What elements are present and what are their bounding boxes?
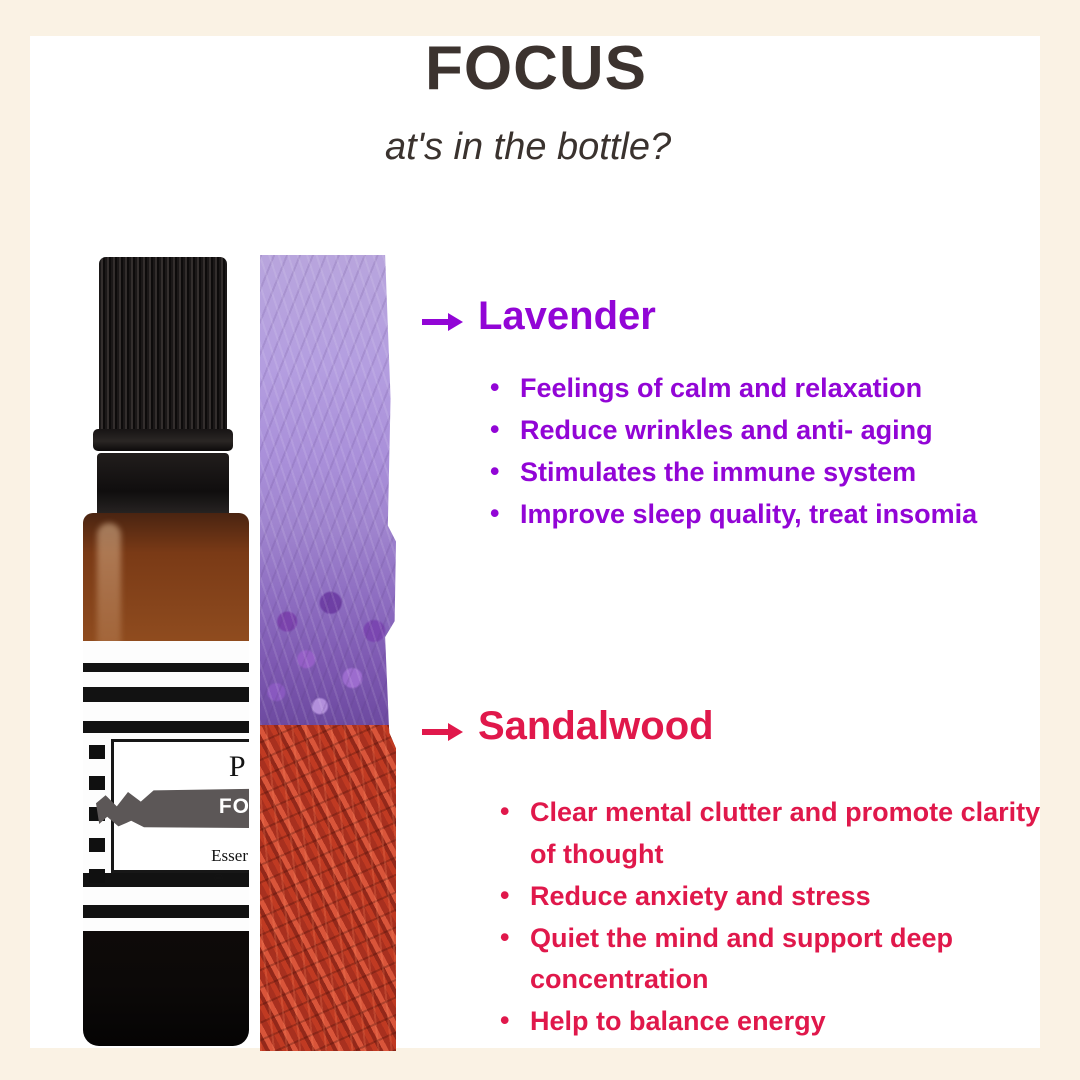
bottle-cap (99, 257, 227, 435)
essential-oil-bottle: P FO Esser ⊖ (75, 241, 257, 1046)
list-item: Help to balance energy (500, 1001, 1080, 1043)
bottle-label: P FO Esser ⊖ (83, 641, 249, 931)
label-brand-text: P (229, 750, 246, 784)
page-title: FOCUS (425, 36, 1065, 101)
section-title-lavender: Lavender (478, 294, 656, 338)
list-item: Feelings of calm and relaxation (490, 368, 1080, 410)
label-brush-stroke: FO (96, 788, 249, 828)
label-brush-text: FO (219, 795, 249, 819)
content-card: FOCUS at's in the bottle? P FO (30, 36, 1040, 1048)
label-subtitle-text: Esser (211, 846, 248, 866)
list-item: Stimulates the immune system (490, 452, 1080, 494)
section-sandalwood: Sandalwood Clear mental clutter and prom… (422, 704, 1080, 1043)
section-title-sandalwood: Sandalwood (478, 704, 714, 748)
label-stripe (83, 721, 249, 733)
benefits-list-sandalwood: Clear mental clutter and promote clarity… (422, 792, 1080, 1043)
label-stripe (83, 873, 249, 887)
product-photo: P FO Esser ⊖ (65, 241, 395, 1046)
label-inner-frame: P FO Esser ⊖ (111, 739, 249, 873)
lavender-flowers-photo (260, 255, 396, 725)
list-item: Clear mental clutter and promote clarity… (500, 792, 1060, 876)
ingredient-image-strip (260, 255, 396, 1051)
label-mark-icon: ⊖ (213, 870, 224, 886)
arrow-right-icon (422, 721, 464, 748)
list-item: Improve sleep quality, treat insomia (490, 494, 1080, 536)
bottle-neck (97, 453, 229, 517)
section-lavender: Lavender Feelings of calm and relaxation… (422, 294, 1080, 535)
sandalwood-chips-photo (260, 725, 396, 1051)
list-item: Reduce anxiety and stress (500, 876, 1080, 918)
list-item: Reduce wrinkles and anti- aging (490, 410, 1080, 452)
header: FOCUS at's in the bottle? (425, 36, 1065, 169)
benefits-list-lavender: Feelings of calm and relaxation Reduce w… (422, 368, 1080, 535)
label-stripe (83, 663, 249, 672)
page-subtitle: at's in the bottle? (385, 127, 1065, 169)
label-stripe (83, 905, 249, 918)
label-stripe (83, 687, 249, 702)
list-item: Quiet the mind and support deep concentr… (500, 918, 1060, 1002)
arrow-right-icon (422, 311, 464, 338)
